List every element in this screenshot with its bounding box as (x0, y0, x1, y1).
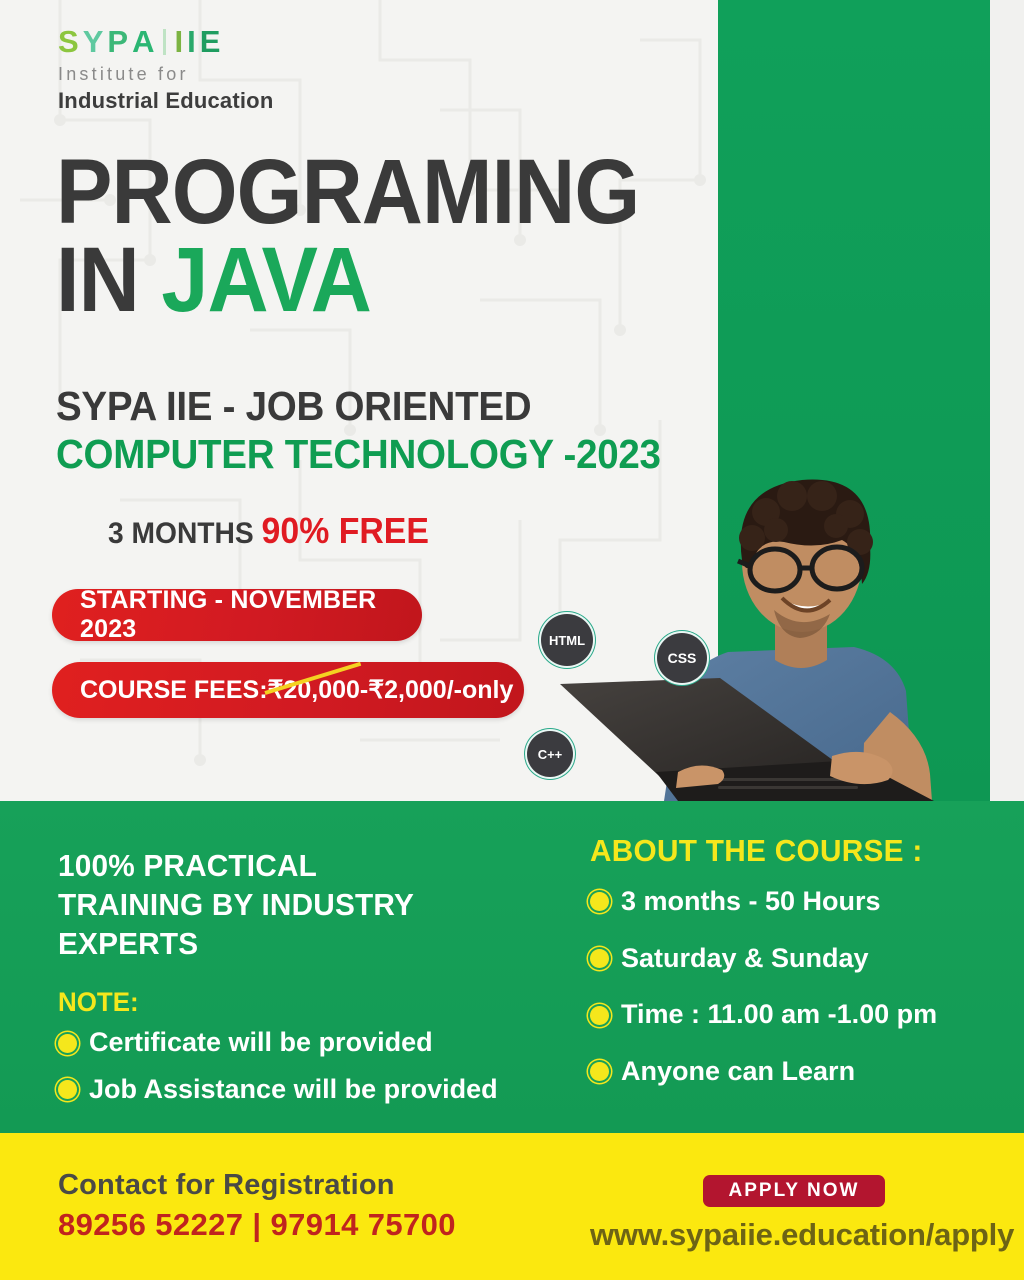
about-course-column: ABOUT THE COURSE : 3 months - 50 Hours S… (590, 833, 990, 1114)
about-item-text: Anyone can Learn (621, 1057, 855, 1087)
bullet-dot-icon (590, 949, 609, 968)
logo-letter-y: Y (83, 26, 105, 57)
logo-letter-e: E (200, 26, 222, 57)
highlights-section: 100% PRACTICAL TRAINING BY INDUSTRY EXPE… (0, 801, 1024, 1133)
course-fees-badge: COURSE FEES: ₹20,000 - ₹2,000/-only (52, 662, 524, 718)
bullet-dot-icon (590, 1062, 609, 1081)
logo-letter-s: S (58, 26, 80, 57)
html-badge: HTML (541, 614, 593, 666)
fees-old-price: ₹20,000 (268, 675, 360, 705)
starting-date-badge: STARTING - NOVEMBER 2023 (52, 589, 422, 641)
logo-tagline-1: Institute for (58, 64, 388, 85)
student-with-laptop-photo (560, 420, 1000, 801)
list-item: 3 months - 50 Hours (590, 887, 990, 917)
cpp-badge: C++ (527, 731, 573, 777)
contact-label: Contact for Registration (58, 1169, 395, 1202)
practical-line-1: 100% PRACTICAL (58, 847, 548, 886)
title-line-2: IN JAVA (56, 236, 639, 324)
hero-section: S Y P A I I E Institute for Industrial E… (0, 0, 1024, 801)
title-line-1: PROGRAMING (56, 148, 639, 236)
css-badge: CSS (657, 633, 707, 683)
practical-training-heading: 100% PRACTICAL TRAINING BY INDUSTRY EXPE… (58, 847, 548, 963)
bullet-dot-icon (590, 1006, 609, 1025)
note-item-text: Job Assistance will be provided (89, 1075, 498, 1105)
logo-divider (163, 29, 166, 55)
fees-separator: - (360, 676, 368, 705)
list-item: Anyone can Learn (590, 1057, 990, 1087)
contact-footer: Contact for Registration 89256 52227 | 9… (0, 1133, 1024, 1280)
bullet-dot-icon (58, 1034, 77, 1053)
fees-new-price: ₹2,000/-only (368, 675, 513, 705)
duration-text: 3 MONTHS (108, 517, 262, 550)
logo-letter-i2: I (187, 26, 197, 57)
brand-logo: S Y P A I I E Institute for Industrial E… (58, 26, 388, 114)
list-item: Job Assistance will be provided (58, 1075, 568, 1105)
about-item-text: Time : 11.00 am -1.00 pm (621, 1000, 937, 1030)
about-item-text: Saturday & Sunday (621, 944, 869, 974)
apply-now-button[interactable]: APPLY NOW (703, 1175, 885, 1207)
poster: S Y P A I I E Institute for Industrial E… (0, 0, 1024, 1280)
about-item-text: 3 months - 50 Hours (621, 887, 881, 917)
note-list: Certificate will be provided Job Assista… (58, 1028, 568, 1104)
note-heading: NOTE: (58, 987, 548, 1018)
discount-text: 90% FREE (262, 510, 429, 551)
logo-letter-p: P (107, 26, 129, 57)
html-badge-label: HTML (549, 633, 585, 648)
subtitle-line-1: SYPA IIE - JOB ORIENTED (56, 383, 531, 429)
practical-line-2: TRAINING BY INDUSTRY EXPERTS (58, 886, 548, 964)
subtitle-line-2: COMPUTER TECHNOLOGY -2023 (56, 432, 661, 476)
fees-label: COURSE FEES: (80, 676, 268, 705)
website-url[interactable]: www.sypaiie.education/apply (590, 1217, 1010, 1253)
logo-letter-a: A (132, 26, 155, 57)
logo-tagline-2: Industrial Education (58, 88, 388, 114)
css-badge-label: CSS (668, 650, 697, 666)
contact-phone-numbers[interactable]: 89256 52227 | 97914 75700 (58, 1207, 456, 1243)
starting-date-label: STARTING - NOVEMBER 2023 (80, 586, 422, 644)
highlights-left-column: 100% PRACTICAL TRAINING BY INDUSTRY EXPE… (58, 847, 568, 1122)
duration-discount: 3 MONTHS 90% FREE (108, 510, 429, 552)
bullet-dot-icon (590, 892, 609, 911)
logo-wordmark: S Y P A I I E (58, 26, 388, 57)
bullet-dot-icon (58, 1080, 77, 1099)
title-line-2-highlight: JAVA (161, 229, 371, 331)
title-line-2-prefix: IN (56, 229, 161, 331)
about-course-list: 3 months - 50 Hours Saturday & Sunday Ti… (590, 887, 990, 1087)
subtitle: SYPA IIE - JOB ORIENTED COMPUTER TECHNOL… (56, 384, 661, 477)
about-course-heading: ABOUT THE COURSE : (590, 833, 974, 869)
cpp-badge-label: C++ (538, 747, 563, 762)
logo-letter-i1: I (174, 26, 184, 57)
note-item-text: Certificate will be provided (89, 1028, 433, 1058)
list-item: Time : 11.00 am -1.00 pm (590, 1000, 990, 1030)
list-item: Certificate will be provided (58, 1028, 568, 1058)
page-title: PROGRAMING IN JAVA (56, 148, 639, 325)
list-item: Saturday & Sunday (590, 944, 990, 974)
